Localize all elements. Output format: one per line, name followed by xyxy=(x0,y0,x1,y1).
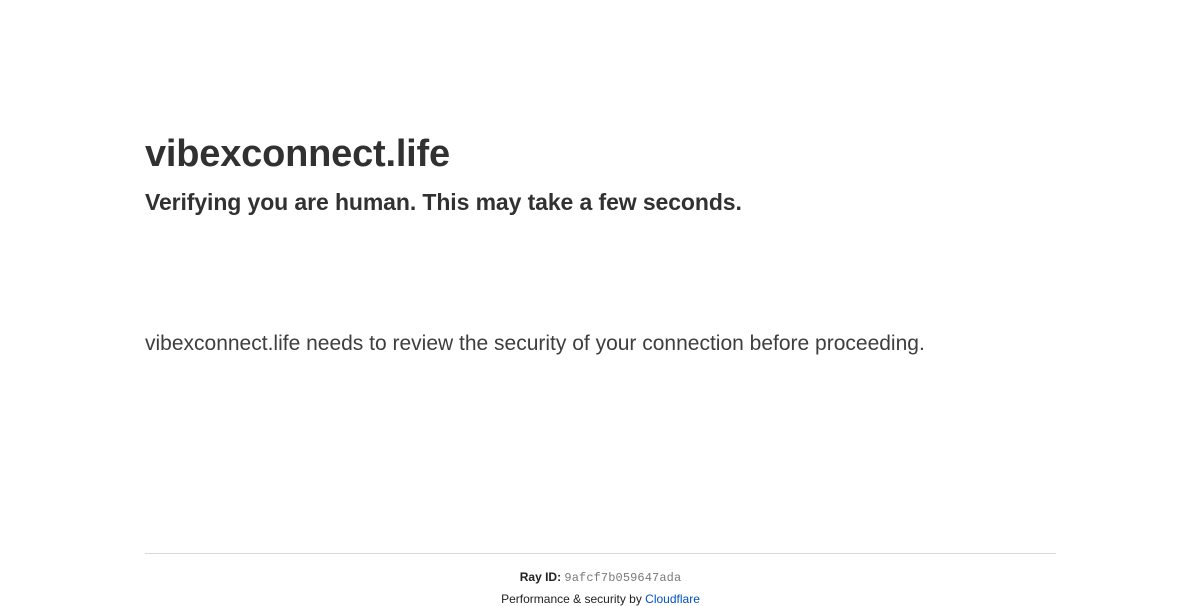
ray-id-label: Ray ID: xyxy=(520,570,561,584)
challenge-explanation-text: vibexconnect.life needs to review the se… xyxy=(145,326,945,362)
ray-id-line: Ray ID: 9afcf7b059647ada xyxy=(145,570,1056,585)
challenge-main: vibexconnect.life Verifying you are huma… xyxy=(145,0,1056,362)
attribution-prefix: Performance & security by xyxy=(501,592,645,606)
turnstile-challenge-widget[interactable] xyxy=(145,241,445,310)
footer: Ray ID: 9afcf7b059647ada Performance & s… xyxy=(145,553,1056,606)
ray-id-value: 9afcf7b059647ada xyxy=(564,571,681,585)
page-title: vibexconnect.life xyxy=(145,131,1056,177)
content-column: vibexconnect.life Verifying you are huma… xyxy=(145,0,1056,600)
attribution-line: Performance & security by Cloudflare xyxy=(145,592,1056,606)
challenge-page: vibexconnect.life Verifying you are huma… xyxy=(0,0,1200,600)
cloudflare-link[interactable]: Cloudflare xyxy=(645,592,700,606)
verification-status-text: Verifying you are human. This may take a… xyxy=(145,187,1056,217)
